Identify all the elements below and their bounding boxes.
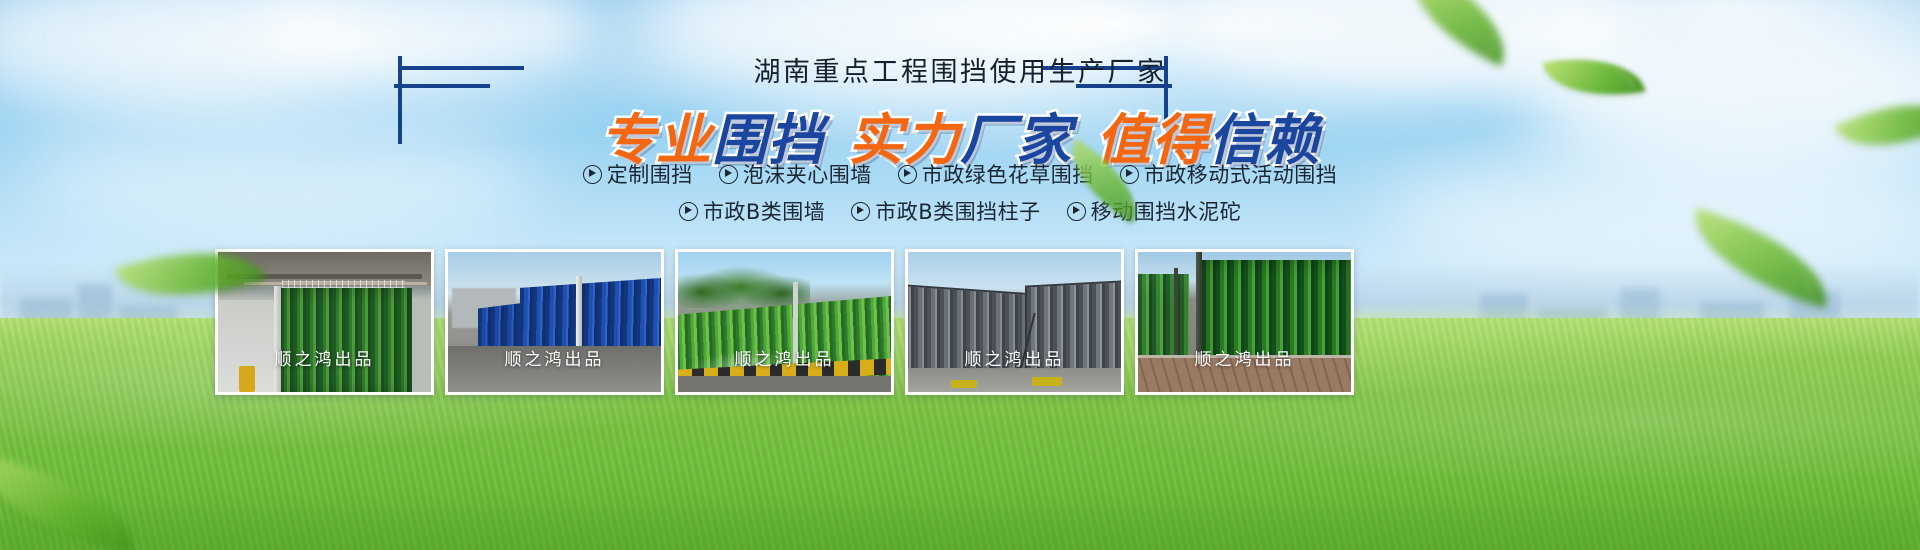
play-circle-icon (851, 202, 870, 221)
bullet-item: 市政B类围墙 (679, 197, 825, 227)
photo-watermark: 顺之鸿出品 (1138, 345, 1351, 370)
product-photo[interactable]: 顺之鸿出品 (445, 249, 664, 395)
play-circle-icon (719, 165, 738, 184)
product-photo[interactable]: 顺之鸿出品 (1135, 249, 1354, 395)
bullet-label: 市政B类围墙 (703, 200, 825, 224)
bullet-item: 市政绿色花草围挡 (898, 160, 1094, 190)
grass-foreground-blur (0, 480, 1920, 550)
headline-block: 湖南重点工程围挡使用生产厂家 专业围挡实力厂家值得信赖 定制围挡泡沫夹心围墙市政… (0, 0, 1920, 250)
bullet-label: 泡沫夹心围墙 (743, 163, 872, 187)
photo-scene-blue-corrugated-site-wall (448, 252, 661, 392)
bullet-row: 市政B类围墙市政B类围挡柱子移动围挡水泥砣 (0, 197, 1920, 230)
bullet-item: 移动围挡水泥砣 (1067, 197, 1242, 227)
photo-watermark: 顺之鸿出品 (908, 345, 1121, 370)
bullet-item: 泡沫夹心围墙 (719, 160, 872, 190)
bullet-label: 市政绿色花草围挡 (922, 163, 1094, 187)
photo-scene-green-grass-panel-roadside-fence (678, 252, 891, 392)
bullet-label: 市政B类围挡柱子 (875, 200, 1040, 224)
photo-watermark: 顺之鸿出品 (678, 345, 891, 370)
play-circle-icon (583, 165, 602, 184)
photo-scene-green-grass-mat-fence-on-pavement (1138, 252, 1351, 392)
play-circle-icon (679, 202, 698, 221)
product-photo[interactable]: 顺之鸿出品 (675, 249, 894, 395)
product-photo[interactable]: 顺之鸿出品 (905, 249, 1124, 395)
feature-bullet-list: 定制围挡泡沫夹心围墙市政绿色花草围挡市政移动式活动围挡 市政B类围墙市政B类围挡… (0, 160, 1920, 230)
bullet-item: 市政B类围挡柱子 (851, 197, 1040, 227)
product-photo-strip: 顺之鸿出品 顺之鸿出品 顺之鸿出品 顺之鸿出品 (215, 249, 1355, 395)
bullet-item: 市政移动式活动围挡 (1120, 160, 1338, 190)
bullet-item: 定制围挡 (583, 160, 693, 190)
photo-watermark: 顺之鸿出品 (448, 345, 661, 370)
play-circle-icon (898, 165, 917, 184)
bullet-label: 定制围挡 (607, 163, 693, 187)
play-circle-icon (1067, 202, 1086, 221)
bullet-label: 市政移动式活动围挡 (1144, 163, 1338, 187)
photo-watermark: 顺之鸿出品 (218, 345, 431, 370)
promotional-banner: 湖南重点工程围挡使用生产厂家 专业围挡实力厂家值得信赖 定制围挡泡沫夹心围墙市政… (0, 0, 1920, 550)
photo-scene-grey-movable-steel-barrier (908, 252, 1121, 392)
bullet-row: 定制围挡泡沫夹心围墙市政绿色花草围挡市政移动式活动围挡 (0, 160, 1920, 193)
